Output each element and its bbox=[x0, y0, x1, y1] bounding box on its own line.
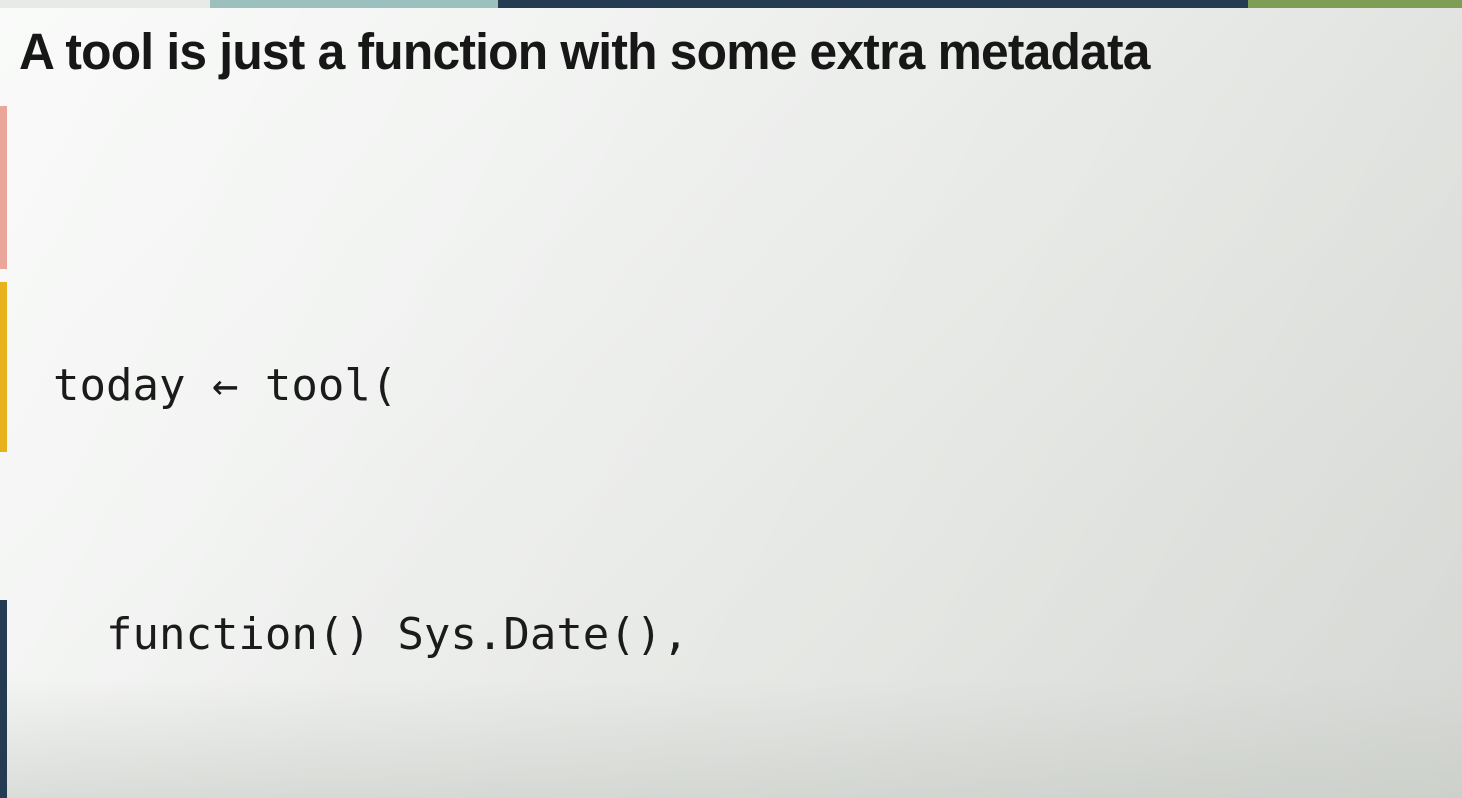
top-bar-segment-light bbox=[0, 0, 210, 8]
top-bar-segment-green bbox=[1248, 0, 1462, 8]
top-bar-segment-teal bbox=[210, 0, 498, 8]
slide-title: A tool is just a function with some extr… bbox=[19, 21, 1413, 83]
code-block: today ← tool( function() Sys.Date(), nam… bbox=[53, 178, 980, 798]
left-accent-strip-salmon bbox=[0, 106, 7, 269]
code-line: today ← tool( bbox=[53, 344, 980, 427]
left-accent-strip-gold bbox=[0, 282, 7, 452]
left-accent-strip-navy bbox=[0, 600, 7, 798]
top-accent-bar bbox=[0, 0, 1462, 8]
top-bar-segment-navy bbox=[498, 0, 1248, 8]
slide-canvas: A tool is just a function with some extr… bbox=[0, 0, 1462, 798]
code-line: function() Sys.Date(), bbox=[53, 593, 980, 676]
